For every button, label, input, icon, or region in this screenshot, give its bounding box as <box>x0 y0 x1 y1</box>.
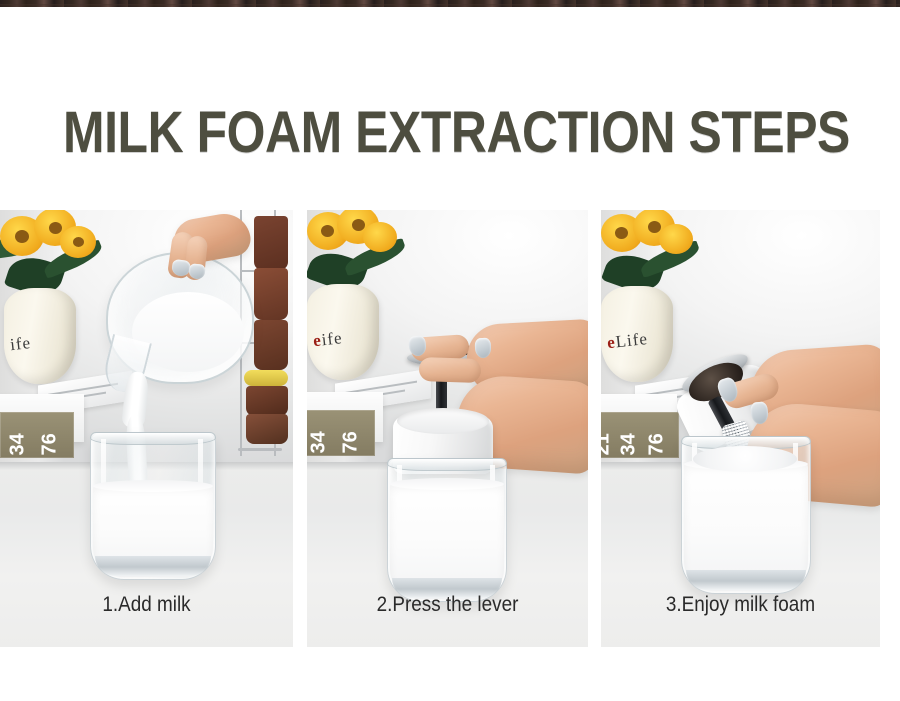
vase: eLife <box>601 286 673 382</box>
flower-center-icon <box>648 221 661 233</box>
coffee-capsule <box>254 320 288 370</box>
vase: ife <box>4 288 76 384</box>
step-caption-3: 3.Enjoy milk foam <box>615 593 866 617</box>
step-card-3[interactable]: eLife 21 34 76 <box>601 210 880 647</box>
glass-base <box>686 570 806 590</box>
finger <box>419 357 482 383</box>
step-3-photo: eLife 21 34 76 <box>601 210 880 647</box>
box-number: 76 <box>340 414 363 454</box>
step-1-photo: ife 34 76 <box>0 210 293 647</box>
olive-label-box: 34 76 <box>0 412 74 458</box>
page-title: MILK FOAM EXTRACTION STEPS <box>63 102 837 164</box>
jug-milk <box>132 292 244 372</box>
step-card-2[interactable]: eife 34 76 <box>307 210 588 647</box>
vase: eife <box>307 284 379 380</box>
flower-center-icon <box>15 230 29 243</box>
box-number: 21 <box>601 416 615 456</box>
glass-base <box>95 556 211 576</box>
flower-center-icon <box>615 227 628 239</box>
frother-lid-top[interactable] <box>397 408 489 434</box>
glass-rim <box>387 458 507 471</box>
vase-label: ife <box>9 329 73 355</box>
olive-label-box: 21 34 76 <box>601 412 679 458</box>
flower-center-icon <box>73 237 84 247</box>
foam-surface <box>693 446 797 472</box>
glass-jar <box>90 432 216 580</box>
step-2-photo: eife 34 76 <box>307 210 588 647</box>
coffee-capsule <box>246 386 288 416</box>
box-number: 76 <box>39 416 62 456</box>
glass-jar <box>387 458 507 602</box>
coffee-capsule <box>244 370 288 386</box>
step-caption-1: 1.Add milk <box>15 593 279 617</box>
vase-label: eife <box>312 325 376 351</box>
olive-label-box: 34 76 <box>307 410 375 456</box>
flower-center-icon <box>321 225 334 237</box>
vase-label: eLife <box>606 327 670 353</box>
flower-icon <box>659 224 693 254</box>
box-number: 34 <box>7 416 30 456</box>
flower-center-icon <box>352 219 365 231</box>
steps-gallery: ife 34 76 <box>0 210 900 647</box>
coffee-capsule <box>246 414 288 444</box>
box-number: 34 <box>618 416 641 456</box>
flower-center-icon <box>49 222 62 234</box>
step-caption-2: 2.Press the lever <box>321 593 574 617</box>
step-card-1[interactable]: ife 34 76 <box>0 210 293 647</box>
flower-icon <box>363 222 397 252</box>
coffee-capsule <box>254 268 288 320</box>
box-number: 76 <box>646 416 669 456</box>
box-number: 34 <box>308 414 331 454</box>
coffee-capsule <box>254 216 288 270</box>
rack-wire <box>238 448 282 451</box>
top-decorative-strip <box>0 0 900 7</box>
